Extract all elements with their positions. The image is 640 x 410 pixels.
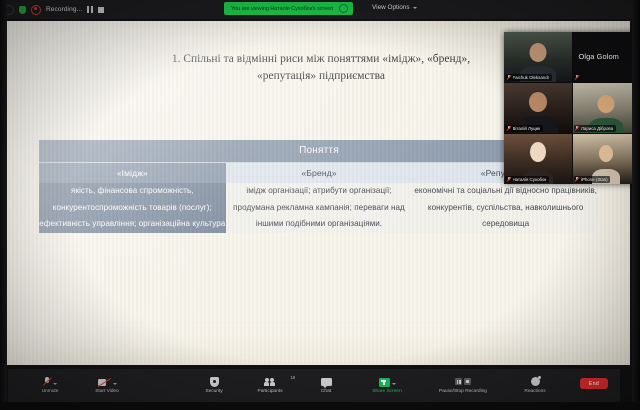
participant-face [529, 43, 546, 62]
chevron-up-icon[interactable] [392, 383, 396, 385]
chevron-up-icon[interactable] [53, 383, 57, 385]
participant-name-badge [574, 74, 582, 82]
monitor-bezel-bottom [0, 402, 640, 410]
mic-muted-icon [575, 126, 579, 132]
mic-muted-icon [507, 126, 511, 132]
reactions-label: Reactions [524, 389, 545, 395]
recording-status-label: Recording... [46, 6, 82, 13]
slide-title-line-1: 1. Спільні та відмінні риси між поняттям… [106, 51, 536, 68]
mic-muted-icon [507, 75, 511, 81]
participants-icon: 16 [264, 376, 276, 387]
participant-video-grid[interactable]: Faichuk Oleksandr Olga Golom Віталій Луц… [504, 32, 640, 184]
participant-name: Лариса Діброва [581, 126, 613, 131]
participant-tile-olga-golom[interactable]: Olga Golom [573, 32, 640, 82]
participant-tile-faichuk-oleksandr[interactable]: Faichuk Oleksandr [504, 32, 572, 82]
end-meeting-button[interactable]: End [580, 378, 608, 389]
participant-name-badge: Наталія Сухобок [505, 176, 549, 184]
column-body-reputation: економічні та соціальні дії відносно пра… [412, 183, 599, 233]
record-icon[interactable] [31, 5, 41, 15]
pause-stop-recording-label: Pause/Stop Recording [439, 389, 487, 395]
start-video-button[interactable]: Start Video [82, 376, 132, 395]
participant-name: Faichuk Oleksandr [513, 75, 550, 80]
stop-icon [98, 7, 104, 13]
participant-face [598, 95, 615, 113]
stop-recording-button[interactable] [98, 7, 104, 13]
participant-face [530, 142, 546, 162]
people-glyph [264, 378, 276, 386]
column-header-brand: «Бренд» [226, 163, 413, 184]
unmute-button[interactable]: Unmute [30, 376, 70, 395]
banner-info-icon[interactable] [339, 4, 348, 13]
pause-stop-glyphs [455, 378, 471, 385]
participant-tile-iphone-stas[interactable]: iPhone (Stas) [573, 134, 640, 184]
column-body-brand: імідж організації; атрибути організації;… [226, 183, 413, 233]
table-row: якість, фінансова спроможність, конкурен… [39, 183, 599, 233]
pause-stop-recording-button[interactable]: Pause/Stop Recording [424, 376, 502, 395]
participant-tile-nataliia-sukhobok[interactable]: Наталія Сухобок [504, 134, 572, 184]
reactions-button[interactable]: Reactions [512, 376, 558, 395]
participant-tile-vitalii-lutsyk[interactable]: Віталій Луцик [504, 83, 572, 133]
reactions-icon [531, 376, 540, 387]
slide-title-line-2: «репутація» підприємства [106, 68, 536, 85]
chat-glyph [321, 378, 332, 387]
participant-tile-larysa-dibrova[interactable]: Лариса Діброва [573, 83, 640, 133]
share-screen-label: Share Screen [372, 389, 401, 395]
participant-face [599, 145, 613, 162]
view-options-button[interactable]: View Options [372, 4, 417, 11]
viewing-screen-banner[interactable]: You are viewing Наталія Сухобок's screen [224, 2, 353, 15]
participant-face [529, 92, 547, 112]
chat-button[interactable]: Chat [306, 376, 346, 395]
zoom-bottom-toolbar: Unmute Start Video Security 16 Participa… [8, 369, 620, 402]
security-button[interactable]: Security [194, 376, 234, 395]
column-body-image: якість, фінансова спроможність, конкурен… [39, 183, 226, 233]
pause-stop-recording-icon [455, 376, 471, 387]
shield-icon[interactable] [19, 6, 26, 14]
reactions-glyph [531, 377, 540, 386]
mic-muted-icon [43, 376, 57, 387]
participant-name-badge: Faichuk Oleksandr [505, 74, 552, 82]
shield-icon [210, 376, 219, 387]
mic-off-glyph [43, 376, 51, 387]
mic-muted-icon [507, 177, 511, 183]
participants-button[interactable]: 16 Participants [246, 376, 294, 395]
participant-name: Віталій Луцик [513, 126, 541, 131]
camera-off-icon [98, 376, 117, 387]
share-glyph [379, 378, 390, 387]
chevron-down-icon [413, 7, 417, 9]
participants-label: Participants [258, 389, 283, 395]
unmute-label: Unmute [42, 389, 59, 395]
participant-name-badge: Віталій Луцик [505, 125, 543, 133]
zoom-top-bar: Recording... You are viewing Наталія Сух… [0, 0, 640, 19]
participant-name: Olga Golom [579, 52, 619, 61]
mic-muted-icon [575, 177, 579, 183]
shield-glyph [210, 377, 219, 387]
participant-name-badge: iPhone (Stas) [574, 176, 611, 184]
camera-off-glyph [98, 378, 111, 387]
pause-icon [87, 6, 93, 13]
participants-count-badge: 16 [290, 375, 295, 380]
pause-recording-button[interactable] [87, 6, 93, 13]
view-options-label: View Options [372, 4, 410, 11]
share-screen-icon [379, 376, 396, 387]
pause-icon[interactable] [455, 378, 462, 385]
slide-title: 1. Спільні та відмінні риси між поняттям… [106, 51, 536, 85]
chat-label: Chat [321, 389, 331, 395]
monitor-photo: Recording... You are viewing Наталія Сух… [0, 0, 640, 410]
monitor-bezel-right [632, 0, 640, 410]
mic-muted-icon [575, 75, 579, 81]
participant-name-badge: Лариса Діброва [574, 125, 616, 133]
participant-name: iPhone (Stas) [581, 177, 608, 182]
security-label: Security [205, 389, 222, 395]
participant-name: Наталія Сухобок [513, 177, 547, 182]
chat-icon [321, 376, 332, 387]
viewing-screen-text: You are viewing Наталія Сухобок's screen [231, 6, 333, 12]
start-video-label: Start Video [95, 389, 119, 395]
chevron-up-icon[interactable] [113, 383, 117, 385]
top-bar-left-controls: Recording... [0, 5, 104, 15]
monitor-bezel-left [0, 0, 7, 410]
stop-icon[interactable] [464, 378, 471, 385]
share-screen-button[interactable]: Share Screen [360, 376, 414, 395]
column-header-image: «Імідж» [39, 163, 226, 184]
